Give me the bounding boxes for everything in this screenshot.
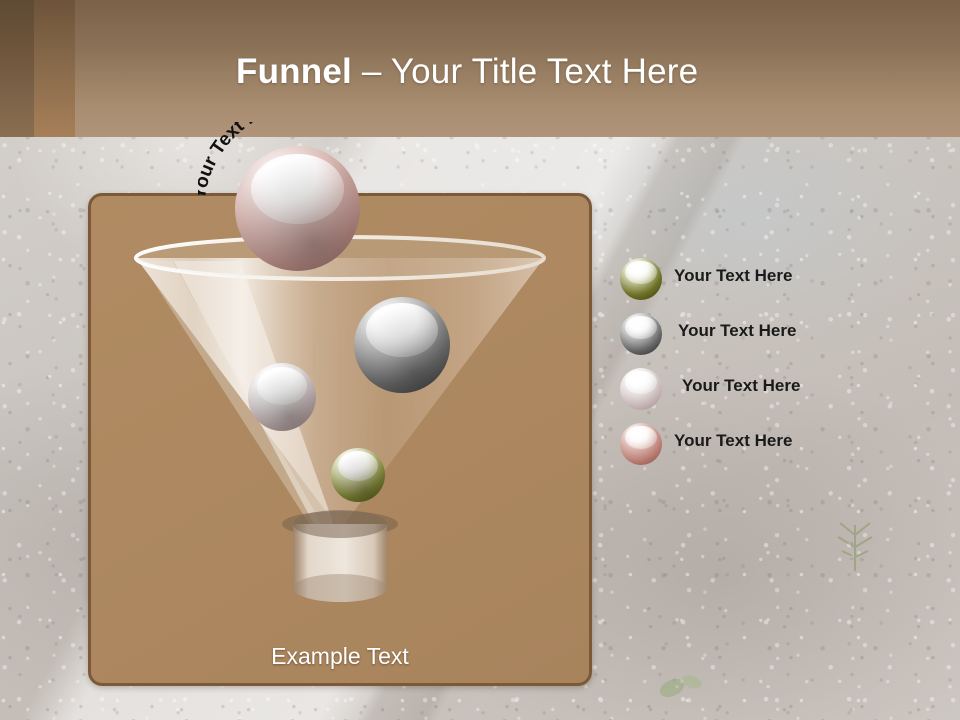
bullet-highlight <box>625 261 656 285</box>
legend-item-label: Your Text Here <box>678 321 796 341</box>
page-title-bold-part: Funnel <box>236 52 352 91</box>
legend-bullet-light-mauve-icon <box>620 368 662 410</box>
legend-item[interactable]: Your Text Here <box>620 258 940 313</box>
funnel-diagram: Your Text Here <box>88 130 592 686</box>
legend-item-label: Your Text Here <box>682 376 800 396</box>
sphere-shadow <box>248 363 316 431</box>
header-accent-stripe-left <box>0 0 34 137</box>
sphere-shadow <box>331 448 385 502</box>
sphere-shadow <box>354 297 450 393</box>
bullet-highlight <box>625 371 656 395</box>
bullet-highlight <box>625 426 656 450</box>
bullet-highlight <box>625 316 656 340</box>
sphere-light-mauve <box>248 363 316 431</box>
legend-bullet-olive-icon <box>620 258 662 300</box>
legend-bullet-rose-icon <box>620 423 662 465</box>
legend-item-label: Your Text Here <box>674 266 792 286</box>
legend-item[interactable]: Your Text Here <box>620 368 940 423</box>
sphere-olive <box>331 448 385 502</box>
leaf-icon <box>650 660 710 710</box>
legend-item-label: Your Text Here <box>674 431 792 451</box>
legend-bullet-gray-icon <box>620 313 662 355</box>
page-title-rest: – Your Title Text Here <box>352 52 698 91</box>
page-title: Funnel – Your Title Text Here <box>236 52 698 92</box>
header-accent-stripe-inner <box>34 0 75 137</box>
sphere-shadow <box>235 146 360 271</box>
diagram-caption: Example Text <box>88 643 592 670</box>
slide-canvas: Funnel – Your Title Text Here Your Text … <box>0 0 960 720</box>
sphere-gray <box>354 297 450 393</box>
sphere-top-mauve <box>235 146 360 271</box>
legend-item[interactable]: Your Text Here <box>620 313 940 368</box>
legend-item[interactable]: Your Text Here <box>620 423 940 478</box>
legend-list: Your Text Here Your Text Here Your Text … <box>620 258 940 478</box>
seedling-plant-icon <box>820 505 890 575</box>
